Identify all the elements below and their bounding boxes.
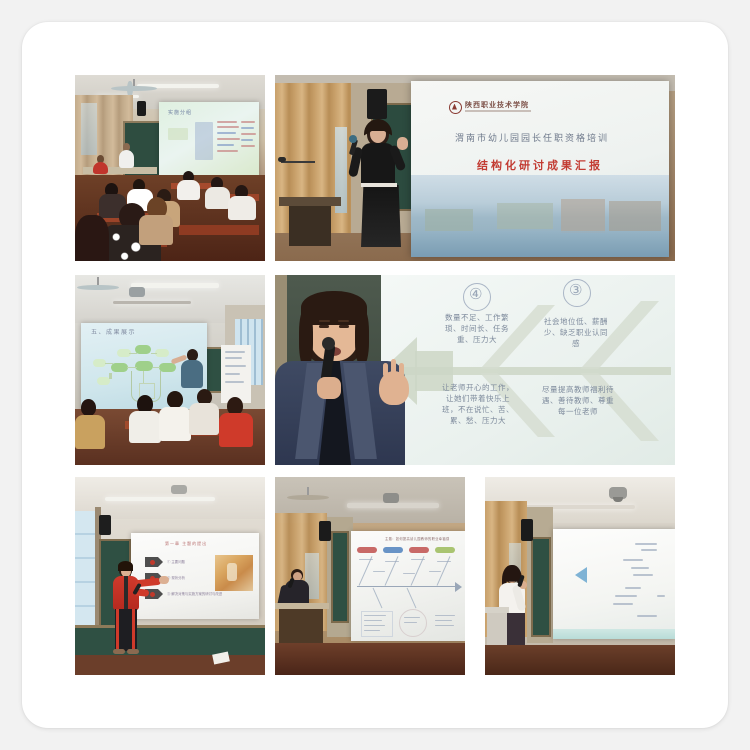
slide-heading: 主题：如何提高幼儿园教师的职业幸福感 xyxy=(385,536,450,541)
fishbone-cause-3: 社会地位低、薪酬少、缺乏职业认同感 xyxy=(541,317,611,350)
projection-screen: 第一章 主题的提出 ① 主要问题 ② 现状分析 ③ 解决对策与实施方案的研讨与改… xyxy=(131,533,259,619)
slide-institution: 陕西职业技术学院 xyxy=(465,100,529,110)
fishbone-cause-4: 数量不足、工作繁琐、时间长、任务重、压力大 xyxy=(441,313,513,346)
photo-presenter-title-slide[interactable]: 陕西职业技术学院 渭南市幼儿园园长任职资格培训 结构化研讨成果汇报 xyxy=(275,75,675,261)
photo-grid: 实施分组 xyxy=(53,53,697,697)
slide-item-1: ① 主要问题 xyxy=(167,559,185,564)
photo-presenter-fishbone-wide[interactable]: 主题：如何提高幼儿园教师的职业幸福感 xyxy=(275,477,465,675)
slide-heading: 实施分组 xyxy=(168,110,192,116)
fishbone-marker-3: ③ xyxy=(569,281,582,299)
slide-item-2: ② 现状分析 xyxy=(167,575,185,580)
slide-heading: 五、成果展示 xyxy=(91,330,136,338)
projection-screen: 陕西职业技术学院 渭南市幼儿园园长任职资格培训 结构化研讨成果汇报 xyxy=(411,81,669,257)
projection-screen: 实施分组 xyxy=(159,102,259,182)
projection-screen: 主题：如何提高幼儿园教师的职业幸福感 xyxy=(351,531,465,641)
photo-presenter-fishbone-slide[interactable]: ④ ③ 数量不足、工作繁琐、时间长、任务重、压力大 社会地位低、薪酬少、缺乏职业… xyxy=(275,275,675,465)
slide-headline: 结构化研讨成果汇报 xyxy=(477,157,603,173)
fishbone-marker-4: ④ xyxy=(469,285,482,303)
fishbone-remedy-3: 尽量提高教师福利待遇、善待教师、尊重每一位老师 xyxy=(541,385,615,418)
slide-item-3: ③ 解决对策与实施方案的研讨与改进 xyxy=(167,591,222,596)
photo-red-jacket-presenter[interactable]: 第一章 主题的提出 ① 主要问题 ② 现状分析 ③ 解决对策与实施方案的研讨与改… xyxy=(75,477,265,675)
photo-classroom-mindmap-slide[interactable]: 五、成果展示 xyxy=(75,275,265,465)
projection-screen xyxy=(553,529,675,639)
collage-card: 实施分组 xyxy=(22,22,728,728)
photo-classroom-audience-wide[interactable]: 实施分组 xyxy=(75,75,265,261)
slide-heading: 第一章 主题的提出 xyxy=(165,541,207,547)
projection-screen: ④ ③ 数量不足、工作繁琐、时间长、任务重、压力大 社会地位低、薪酬少、缺乏职业… xyxy=(381,275,675,465)
fishbone-remedy-4: 让老师开心的工作，让她们带着快乐上班，不在说忙、苦、累、愁、压力大 xyxy=(439,383,517,427)
photo-presenter-text-slide[interactable]: Woman in a white blouse speaking into a … xyxy=(485,477,675,675)
slide-title-line: 渭南市幼儿园园长任职资格培训 xyxy=(455,131,609,144)
